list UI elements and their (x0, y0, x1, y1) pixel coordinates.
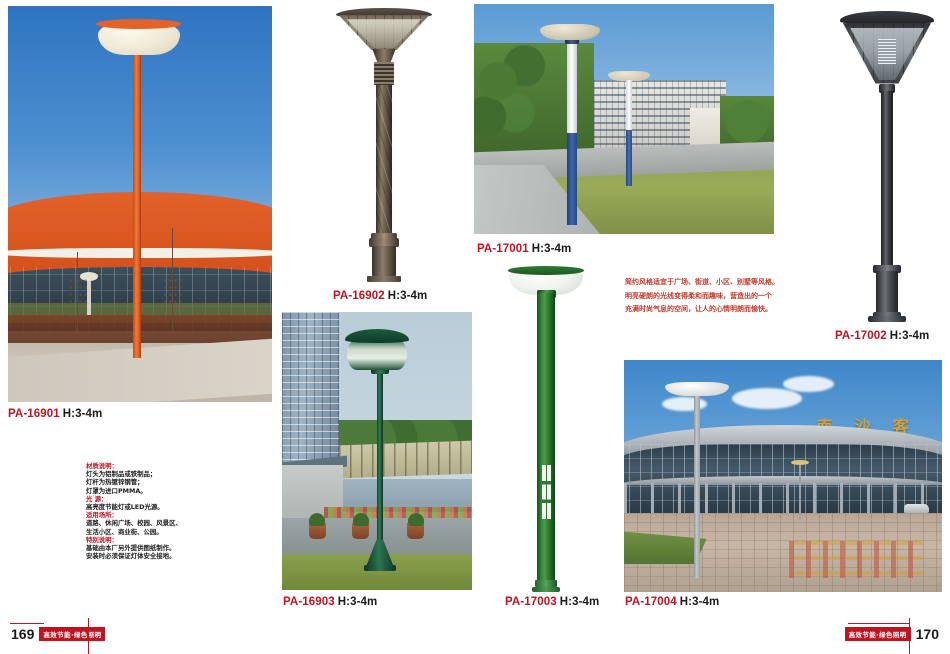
twisted-texture (376, 85, 391, 235)
blurb-line: 简约风格适宜于广场、街道、小区、别墅等风格。 (625, 276, 840, 290)
caption-pa-17004: PA-17004H:3-4m (625, 596, 719, 608)
caption-pa-17001: PA-17001H:3-4m (477, 243, 571, 255)
product-code: PA-17001 (477, 243, 529, 255)
lamp-core (878, 39, 896, 64)
illuminated-window-panel (542, 465, 551, 518)
planter-pot (407, 523, 424, 538)
product-image-pa-17002 (832, 4, 942, 322)
lamp-base-plate (532, 587, 560, 592)
product-photo-pa-17004: 南 沙 客 (624, 360, 942, 592)
planter-pot (309, 523, 326, 538)
footer-right: 高效节能·绿色照明 170 (845, 622, 944, 646)
planter-pot (352, 523, 369, 538)
specification-block: 材质说明： 灯头为铝制品或铁制品； 灯杆为热镀锌钢管； 灯罩为进口PMMA。 光… (86, 462, 236, 560)
product-code: PA-17003 (505, 596, 557, 608)
caption-pa-17002: PA-17002H:3-4m (835, 330, 929, 342)
application-line: 道路、休闲广场、校园、风景区、 (86, 519, 236, 527)
product-code: PA-16901 (8, 408, 60, 420)
product-code: PA-16903 (283, 596, 335, 608)
cloud (732, 388, 802, 409)
blurb-line: 充满时尚气息的空间，让人的心情明朗而愉快。 (625, 303, 840, 317)
footer-left: 169 高效节能·绿色照明 (6, 622, 105, 646)
shade-cup (372, 49, 396, 63)
special-note-line: 基础由本厂另外提供图纸制作。 (86, 544, 236, 552)
footer-rule-right (848, 623, 910, 624)
product-photo-pa-17001 (474, 4, 774, 234)
product-code: PA-17004 (625, 596, 677, 608)
light-source-line: 高亮度节能灯或LED光源。 (86, 503, 236, 511)
product-code: PA-16902 (333, 290, 385, 302)
material-line: 灯杆为热镀锌钢管； (86, 478, 236, 486)
caption-pa-17003: PA-17003H:3-4m (505, 596, 599, 608)
product-image-pa-16902 (330, 4, 438, 282)
near-lamp-disc-shade (540, 24, 600, 40)
lamp-base-plate (868, 316, 905, 322)
product-height: H:3-4m (63, 408, 103, 420)
product-height: H:3-4m (680, 596, 720, 608)
light-source-heading: 光 源： (86, 495, 236, 503)
catalog-page: PA-16901H:3-4m PA-16902H:3-4m (0, 0, 950, 654)
marketing-description: 简约风格适宜于广场、街道、小区、别墅等风格。 明亮硬朗的光线变得柔和而趣味，营造… (625, 276, 840, 317)
disc-rim (508, 266, 584, 275)
product-height: H:3-4m (388, 290, 428, 302)
background-lamp (799, 464, 802, 520)
pergola-structure (339, 440, 472, 478)
lamp-pole-orange (133, 50, 141, 359)
material-heading: 材质说明： (86, 462, 236, 470)
material-line: 灯罩为进口PMMA。 (86, 487, 236, 495)
special-note-line: 安装时必须保证灯体安全接地。 (86, 552, 236, 560)
lamp-pole-green-cylinder (537, 293, 555, 580)
bare-tree (172, 228, 173, 331)
application-line: 生活小区、商业街、公园。 (86, 528, 236, 536)
product-photo-pa-16903 (282, 312, 472, 590)
page-number-right: 170 (911, 626, 944, 642)
paving-pattern (789, 541, 923, 578)
lamp-base-plate (367, 276, 402, 282)
caption-pa-16901: PA-16901H:3-4m (8, 408, 102, 420)
far-lamp-white-section (626, 80, 633, 131)
window-grid (542, 465, 551, 518)
lamp-plinth (876, 271, 898, 312)
footer-rule-left (10, 623, 44, 624)
cloud (662, 397, 707, 411)
product-height: H:3-4m (560, 596, 600, 608)
lamp-pole-grey (694, 392, 700, 578)
footer-slogan-right: 高效节能·绿色照明 (845, 627, 911, 641)
product-code: PA-17002 (835, 330, 887, 342)
parked-car (904, 504, 929, 513)
pergola-posts (339, 440, 472, 478)
footer-slogan-left: 高效节能·绿色照明 (39, 627, 105, 641)
page-number-left: 169 (6, 626, 39, 642)
decorative-rings (374, 62, 393, 84)
product-height: H:3-4m (532, 243, 572, 255)
lamp-plinth (372, 246, 396, 277)
lamp-shaft (881, 91, 893, 266)
shade-brim (840, 11, 935, 24)
footer-divider-left (88, 618, 89, 654)
lamp-pole-green (377, 373, 383, 562)
product-photo-pa-16901 (8, 6, 272, 402)
near-lamp-white-section (567, 41, 577, 133)
lamp-shade-rim (96, 19, 180, 29)
bare-tree (77, 252, 78, 331)
background-lamp (87, 279, 90, 315)
product-height: H:3-4m (338, 596, 378, 608)
product-image-pa-17003 (496, 258, 596, 592)
lamp-disc-shade (665, 382, 729, 396)
footer-divider-right (909, 618, 910, 654)
caption-pa-16902: PA-16902H:3-4m (333, 290, 427, 302)
lamp-shaft (376, 85, 391, 235)
caption-pa-16903: PA-16903H:3-4m (283, 596, 377, 608)
special-note-heading: 特别说明： (86, 536, 236, 544)
blurb-line: 明亮硬朗的光线变得柔和而趣味，营造出的一个 (625, 290, 840, 304)
base-plate (364, 565, 396, 571)
product-height: H:3-4m (890, 330, 930, 342)
